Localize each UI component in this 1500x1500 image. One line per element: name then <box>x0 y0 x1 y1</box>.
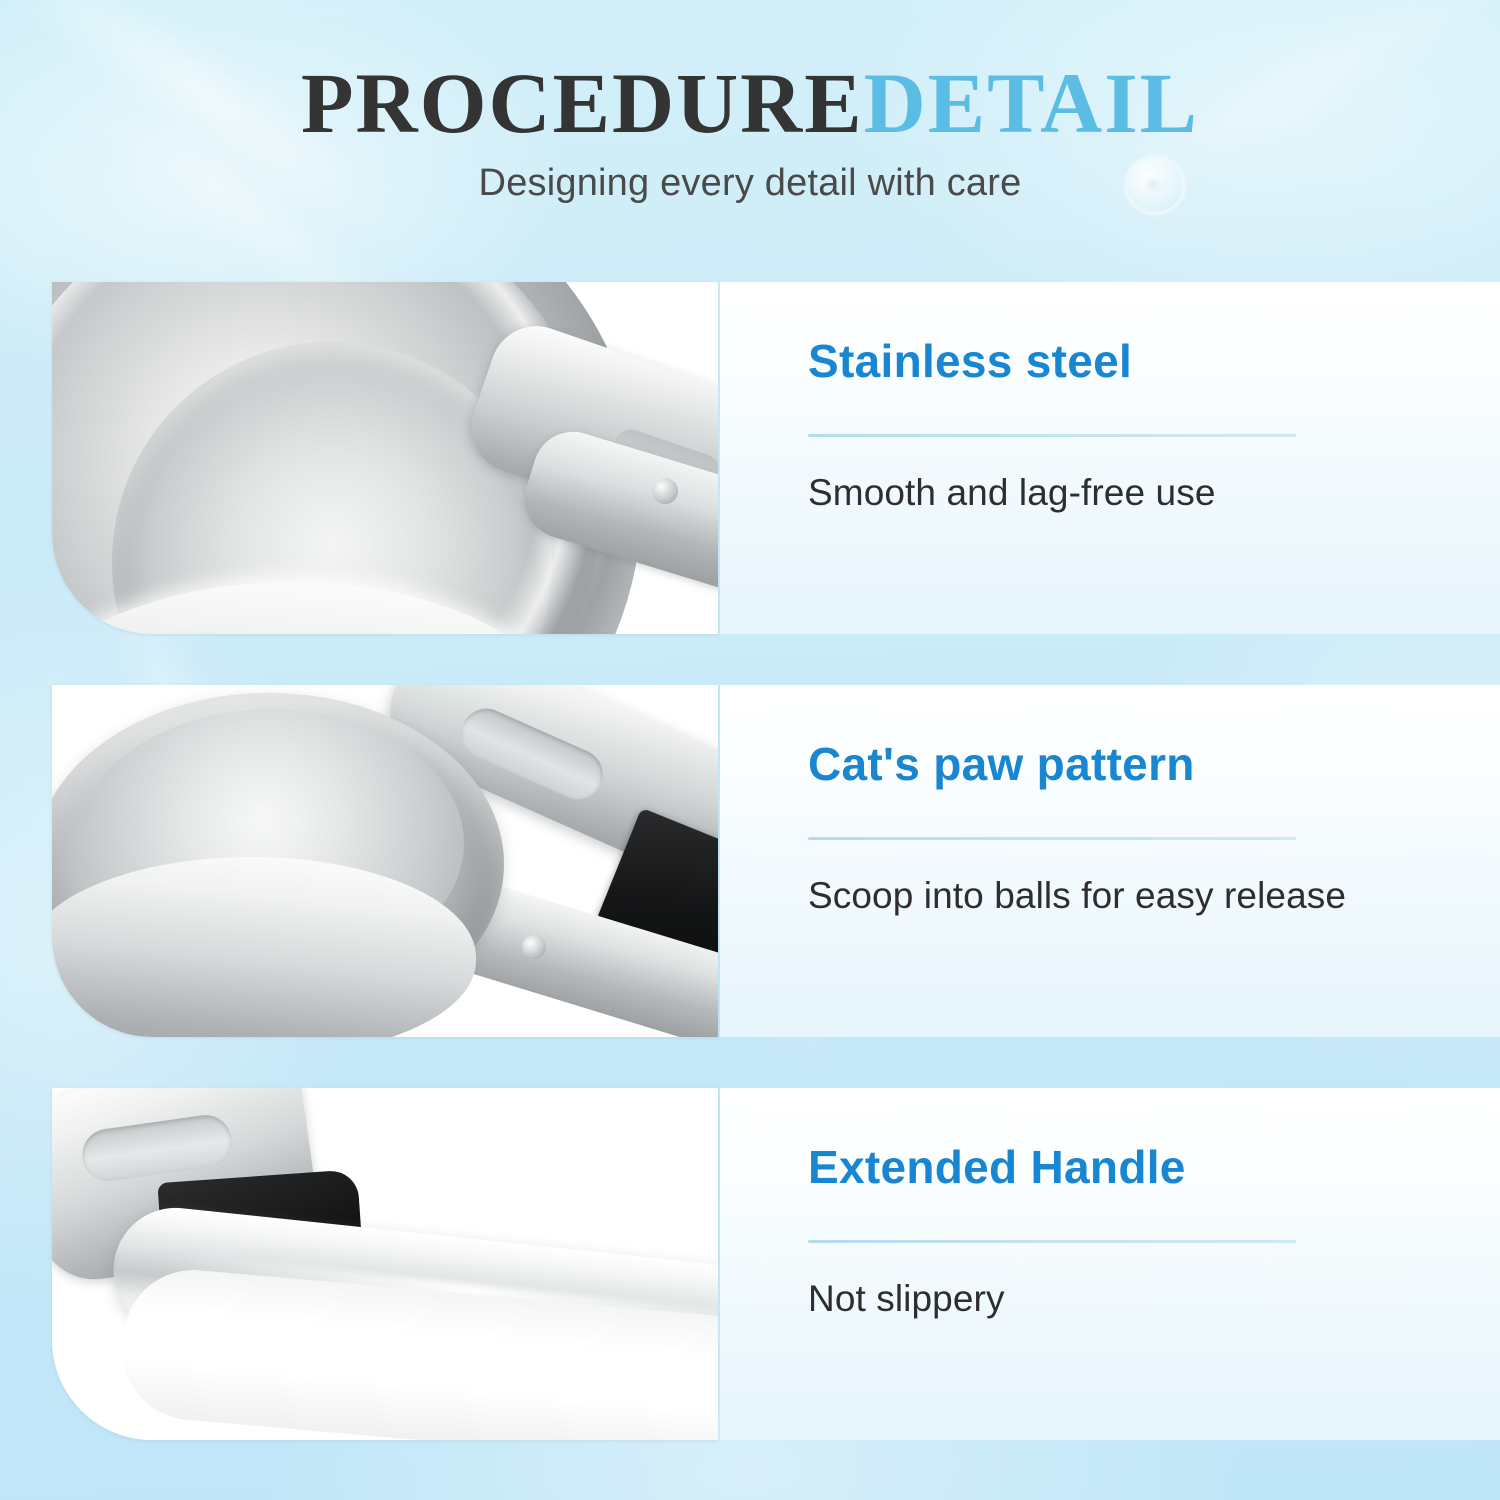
feature-row: Extended Handle Not slippery <box>0 1088 1500 1440</box>
feature-text-panel: Stainless steel Smooth and lag-free use <box>720 282 1500 634</box>
page-title-blue: DETAIL <box>864 55 1199 151</box>
header: PROCEDUREDETAIL Designing every detail w… <box>0 0 1500 205</box>
feature-title: Extended Handle <box>808 1142 1186 1193</box>
rivet-shape <box>522 935 546 959</box>
page-title: PROCEDUREDETAIL <box>0 0 1500 148</box>
feature-description: Smooth and lag-free use <box>808 470 1216 516</box>
feature-text-panel: Cat's paw pattern Scoop into balls for e… <box>720 685 1500 1037</box>
feature-description: Not slippery <box>808 1276 1005 1322</box>
feature-title: Cat's paw pattern <box>808 739 1195 790</box>
feature-photo-card <box>52 685 718 1037</box>
feature-description: Scoop into balls for easy release <box>808 873 1346 919</box>
page-subtitle: Designing every detail with care <box>0 162 1500 205</box>
feature-row: Cat's paw pattern Scoop into balls for e… <box>0 685 1500 1037</box>
feature-row: Stainless steel Smooth and lag-free use <box>0 282 1500 634</box>
infographic-canvas: PROCEDUREDETAIL Designing every detail w… <box>0 0 1500 1500</box>
feature-photo-card <box>52 1088 718 1440</box>
water-droplet-icon <box>1127 158 1183 212</box>
page-title-dark: PROCEDURE <box>301 55 864 151</box>
feature-photo-1 <box>52 282 718 634</box>
feature-photo-card <box>52 282 718 634</box>
feature-divider <box>808 1240 1296 1243</box>
feature-divider <box>808 837 1296 840</box>
feature-photo-2 <box>52 685 718 1037</box>
feature-photo-3 <box>52 1088 718 1440</box>
feature-divider <box>808 434 1296 437</box>
feature-title: Stainless steel <box>808 336 1132 387</box>
feature-text-panel: Extended Handle Not slippery <box>720 1088 1500 1440</box>
rivet-shape <box>652 478 678 504</box>
